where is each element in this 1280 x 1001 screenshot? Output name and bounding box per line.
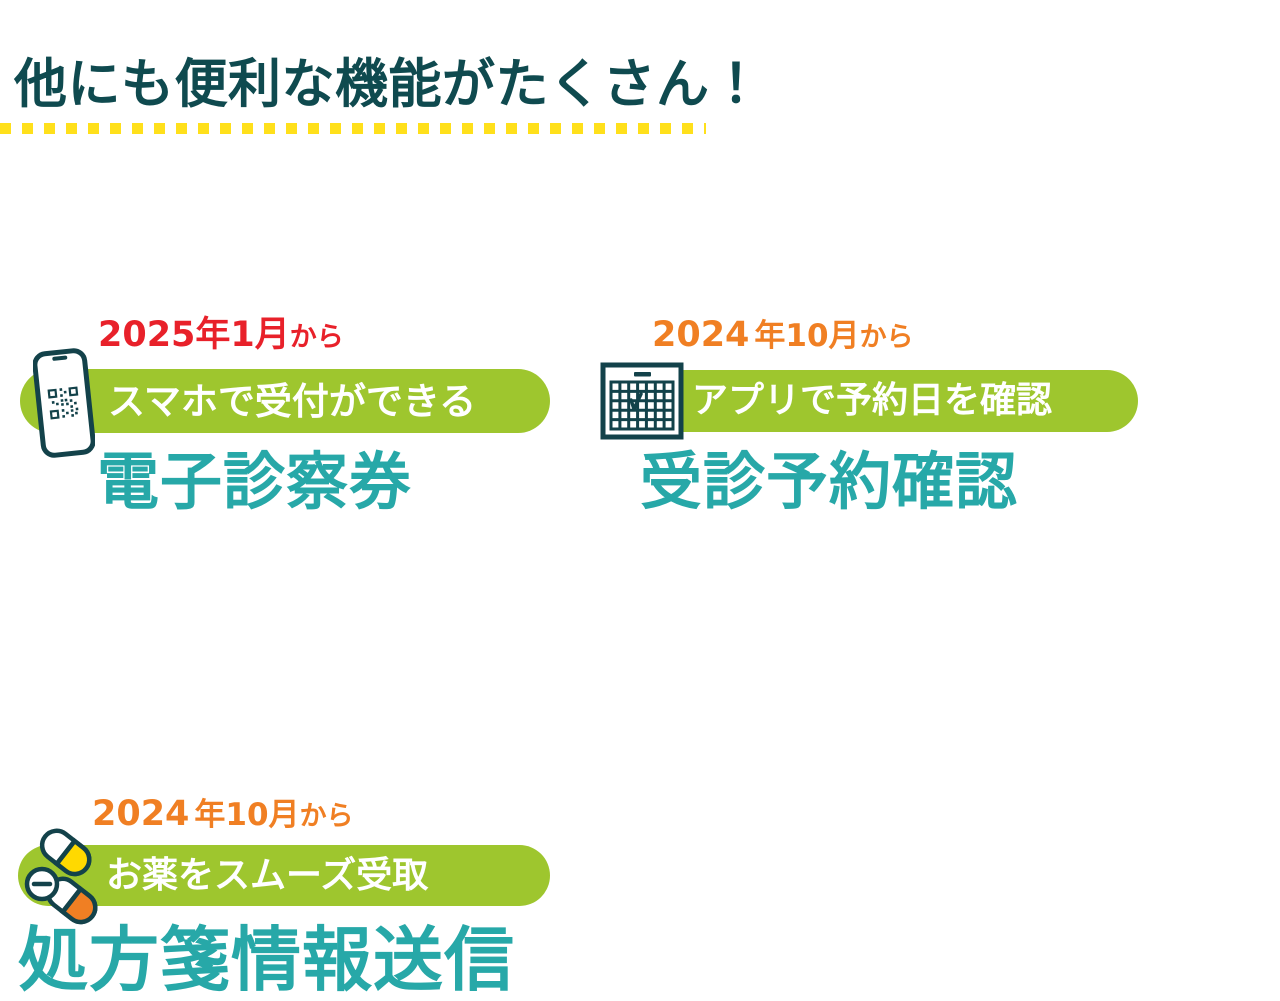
medicine-pills-icon (20, 820, 120, 925)
feature-pill-label-3: お薬をスムーズ受取 (106, 858, 428, 894)
date-suffix-3: から (300, 801, 354, 832)
date-mid-2: 年10月 (754, 318, 859, 354)
feature-title-2: 受診予約確認 (640, 451, 1018, 513)
calendar-icon (600, 362, 684, 440)
heading-dashed-rule (0, 123, 706, 134)
slide-root: 他にも便利な機能がたくさん！ 2025年1月から スマホで受付ができる (0, 0, 1280, 720)
date-mid-3: 年10月 (194, 797, 299, 833)
feature-card-jushin-yoyaku-kakunin: 2024年10月から アプリで予約日を確認 (0, 155, 1200, 375)
date-label-3: 2024年10月から (92, 797, 354, 832)
feature-pill-2[interactable]: アプリで予約日を確認 (608, 370, 1138, 432)
heading-block: 他にも便利な機能がたくさん！ (0, 55, 760, 145)
date-suffix-2: から (860, 322, 914, 353)
feature-card-shohosen-joho-soshin: 2024年10月から お薬をスムーズ受取 (0, 395, 600, 645)
date-label-2: 2024年10月から (652, 318, 914, 353)
page-title: 他にも便利な機能がたくさん！ (14, 55, 763, 115)
feature-pill-label-2: アプリで予約日を確認 (692, 383, 1052, 419)
feature-title-3: 処方箋情報送信 (18, 925, 515, 995)
date-prefix-2: 2024 (652, 315, 749, 355)
